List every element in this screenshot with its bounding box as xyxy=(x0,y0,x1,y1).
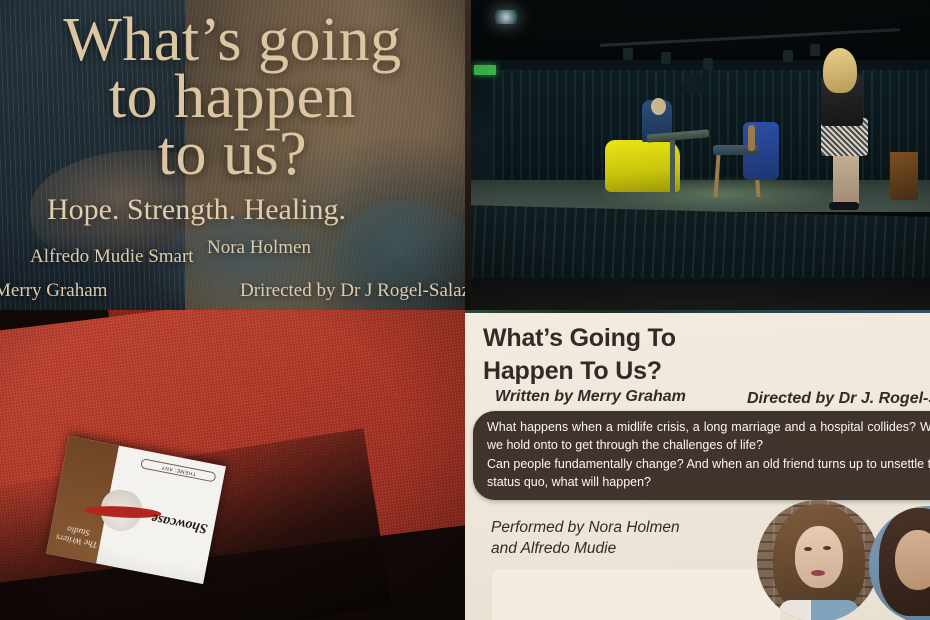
poster-tagline: Hope. Strength. Healing. xyxy=(0,193,393,227)
panel-stage-performance[interactable] xyxy=(465,0,930,310)
poster-cast-left: Alfredo Mudie Smart xyxy=(30,246,194,268)
photo-collage-grid: What’s going to happen to us? Hope. Stre… xyxy=(0,0,930,620)
poster-title-line-2: to happen xyxy=(0,69,465,126)
photo-left-edge xyxy=(465,0,471,310)
vignette-overlay xyxy=(465,0,930,310)
poster-text-layer: What’s going to happen to us? Hope. Stre… xyxy=(0,0,465,310)
vignette-overlay xyxy=(0,310,465,620)
poster-title-line-3: to us? xyxy=(0,126,465,183)
panel-printed-programme-page[interactable]: What’s Going To Happen To Us? Written by… xyxy=(465,310,930,620)
poster-director: Drirected by Dr J Rogel-Salazar xyxy=(240,280,465,302)
poster-cast-right: Nora Holmen xyxy=(207,237,311,259)
panel-promo-poster[interactable]: What’s going to happen to us? Hope. Stre… xyxy=(0,0,465,310)
poster-title: What’s going to happen to us? xyxy=(0,12,465,183)
poster-writer: Merry Graham xyxy=(0,280,107,302)
poster-title-line-1: What’s going xyxy=(0,12,465,69)
paper-grain-overlay xyxy=(465,310,930,620)
panel-programme-on-seat[interactable]: The Writers Studio Showcase THEME: ANY T… xyxy=(0,310,465,620)
